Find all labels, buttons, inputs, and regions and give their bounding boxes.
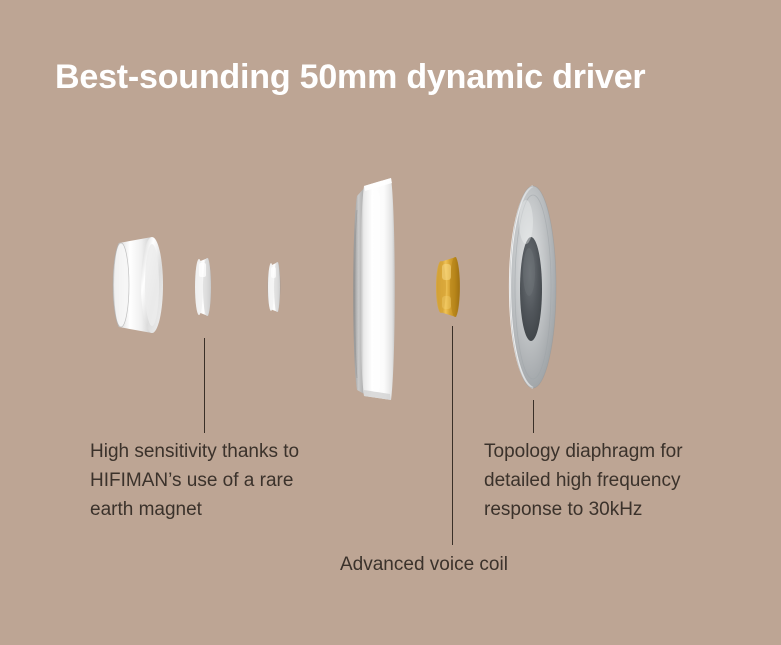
part-topology-diaphragm: [510, 186, 556, 388]
part-voice-coil: [436, 257, 460, 317]
leader-line-left: [204, 338, 205, 433]
part-main-chassis-disc: [353, 178, 395, 400]
part-washer-disc-1: [195, 258, 211, 316]
part-magnet-ring: [113, 237, 163, 333]
caption-magnet: High sensitivity thanks to HIFIMAN’s use…: [90, 437, 325, 524]
part-washer-disc-2: [268, 262, 281, 312]
leader-line-center: [452, 326, 453, 545]
page-title: Best-sounding 50mm dynamic driver: [55, 56, 645, 98]
caption-voice-coil: Advanced voice coil: [340, 550, 570, 579]
leader-line-right: [533, 400, 534, 433]
caption-diaphragm: Topology diaphragm for detailed high fre…: [484, 437, 739, 524]
product-feature-graphic: Best-sounding 50mm dynamic driver: [0, 0, 781, 645]
